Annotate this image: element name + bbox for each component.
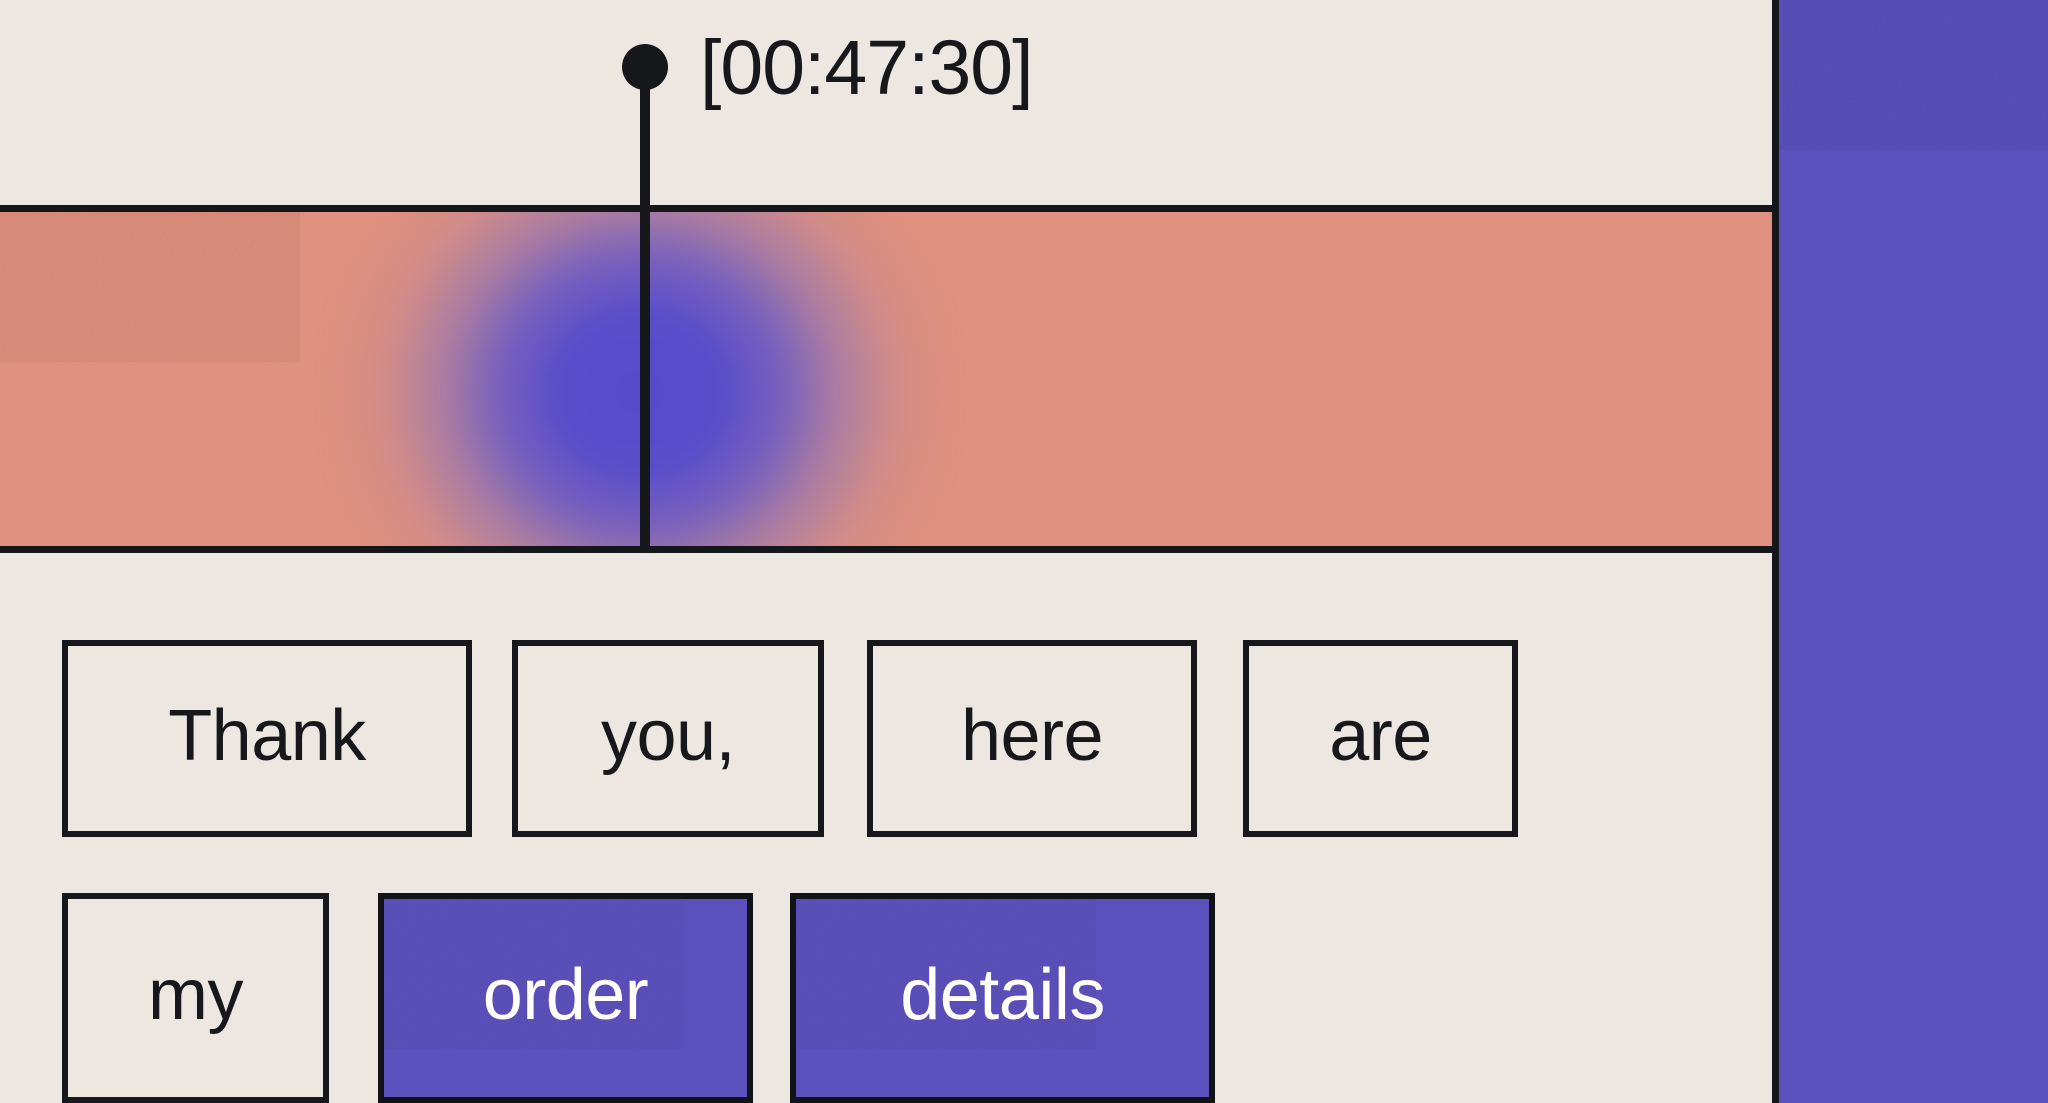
word-chip-order[interactable]: order bbox=[378, 893, 753, 1103]
word-chip-here[interactable]: here bbox=[867, 640, 1197, 837]
word-chip-label: my bbox=[148, 959, 243, 1031]
playhead-line[interactable] bbox=[640, 80, 650, 553]
timestamp-label: [00:47:30] bbox=[700, 25, 1033, 111]
timeline-header: [00:47:30] bbox=[0, 0, 1772, 205]
word-chip-label: order bbox=[483, 959, 649, 1031]
band-grain-texture bbox=[0, 212, 300, 362]
word-chip-label: Thank bbox=[168, 700, 366, 772]
word-chip-details[interactable]: details bbox=[790, 893, 1215, 1103]
word-chip-my[interactable]: my bbox=[62, 893, 329, 1103]
timeline-transcript-view: [00:47:30] Thank you, here bbox=[0, 0, 2048, 1103]
word-chip-you[interactable]: you, bbox=[512, 640, 824, 837]
word-chip-label: you, bbox=[601, 700, 735, 772]
activity-band[interactable] bbox=[0, 205, 1772, 553]
side-panel-grain-texture bbox=[1779, 0, 2048, 150]
word-chip-thank[interactable]: Thank bbox=[62, 640, 472, 837]
word-chip-label: are bbox=[1329, 700, 1432, 772]
word-chip-label: details bbox=[900, 959, 1105, 1031]
transcript-area: Thank you, here are my bbox=[0, 553, 1772, 1103]
word-chip-label: here bbox=[961, 700, 1103, 772]
side-panel[interactable] bbox=[1772, 0, 2048, 1103]
word-chip-are[interactable]: are bbox=[1243, 640, 1518, 837]
